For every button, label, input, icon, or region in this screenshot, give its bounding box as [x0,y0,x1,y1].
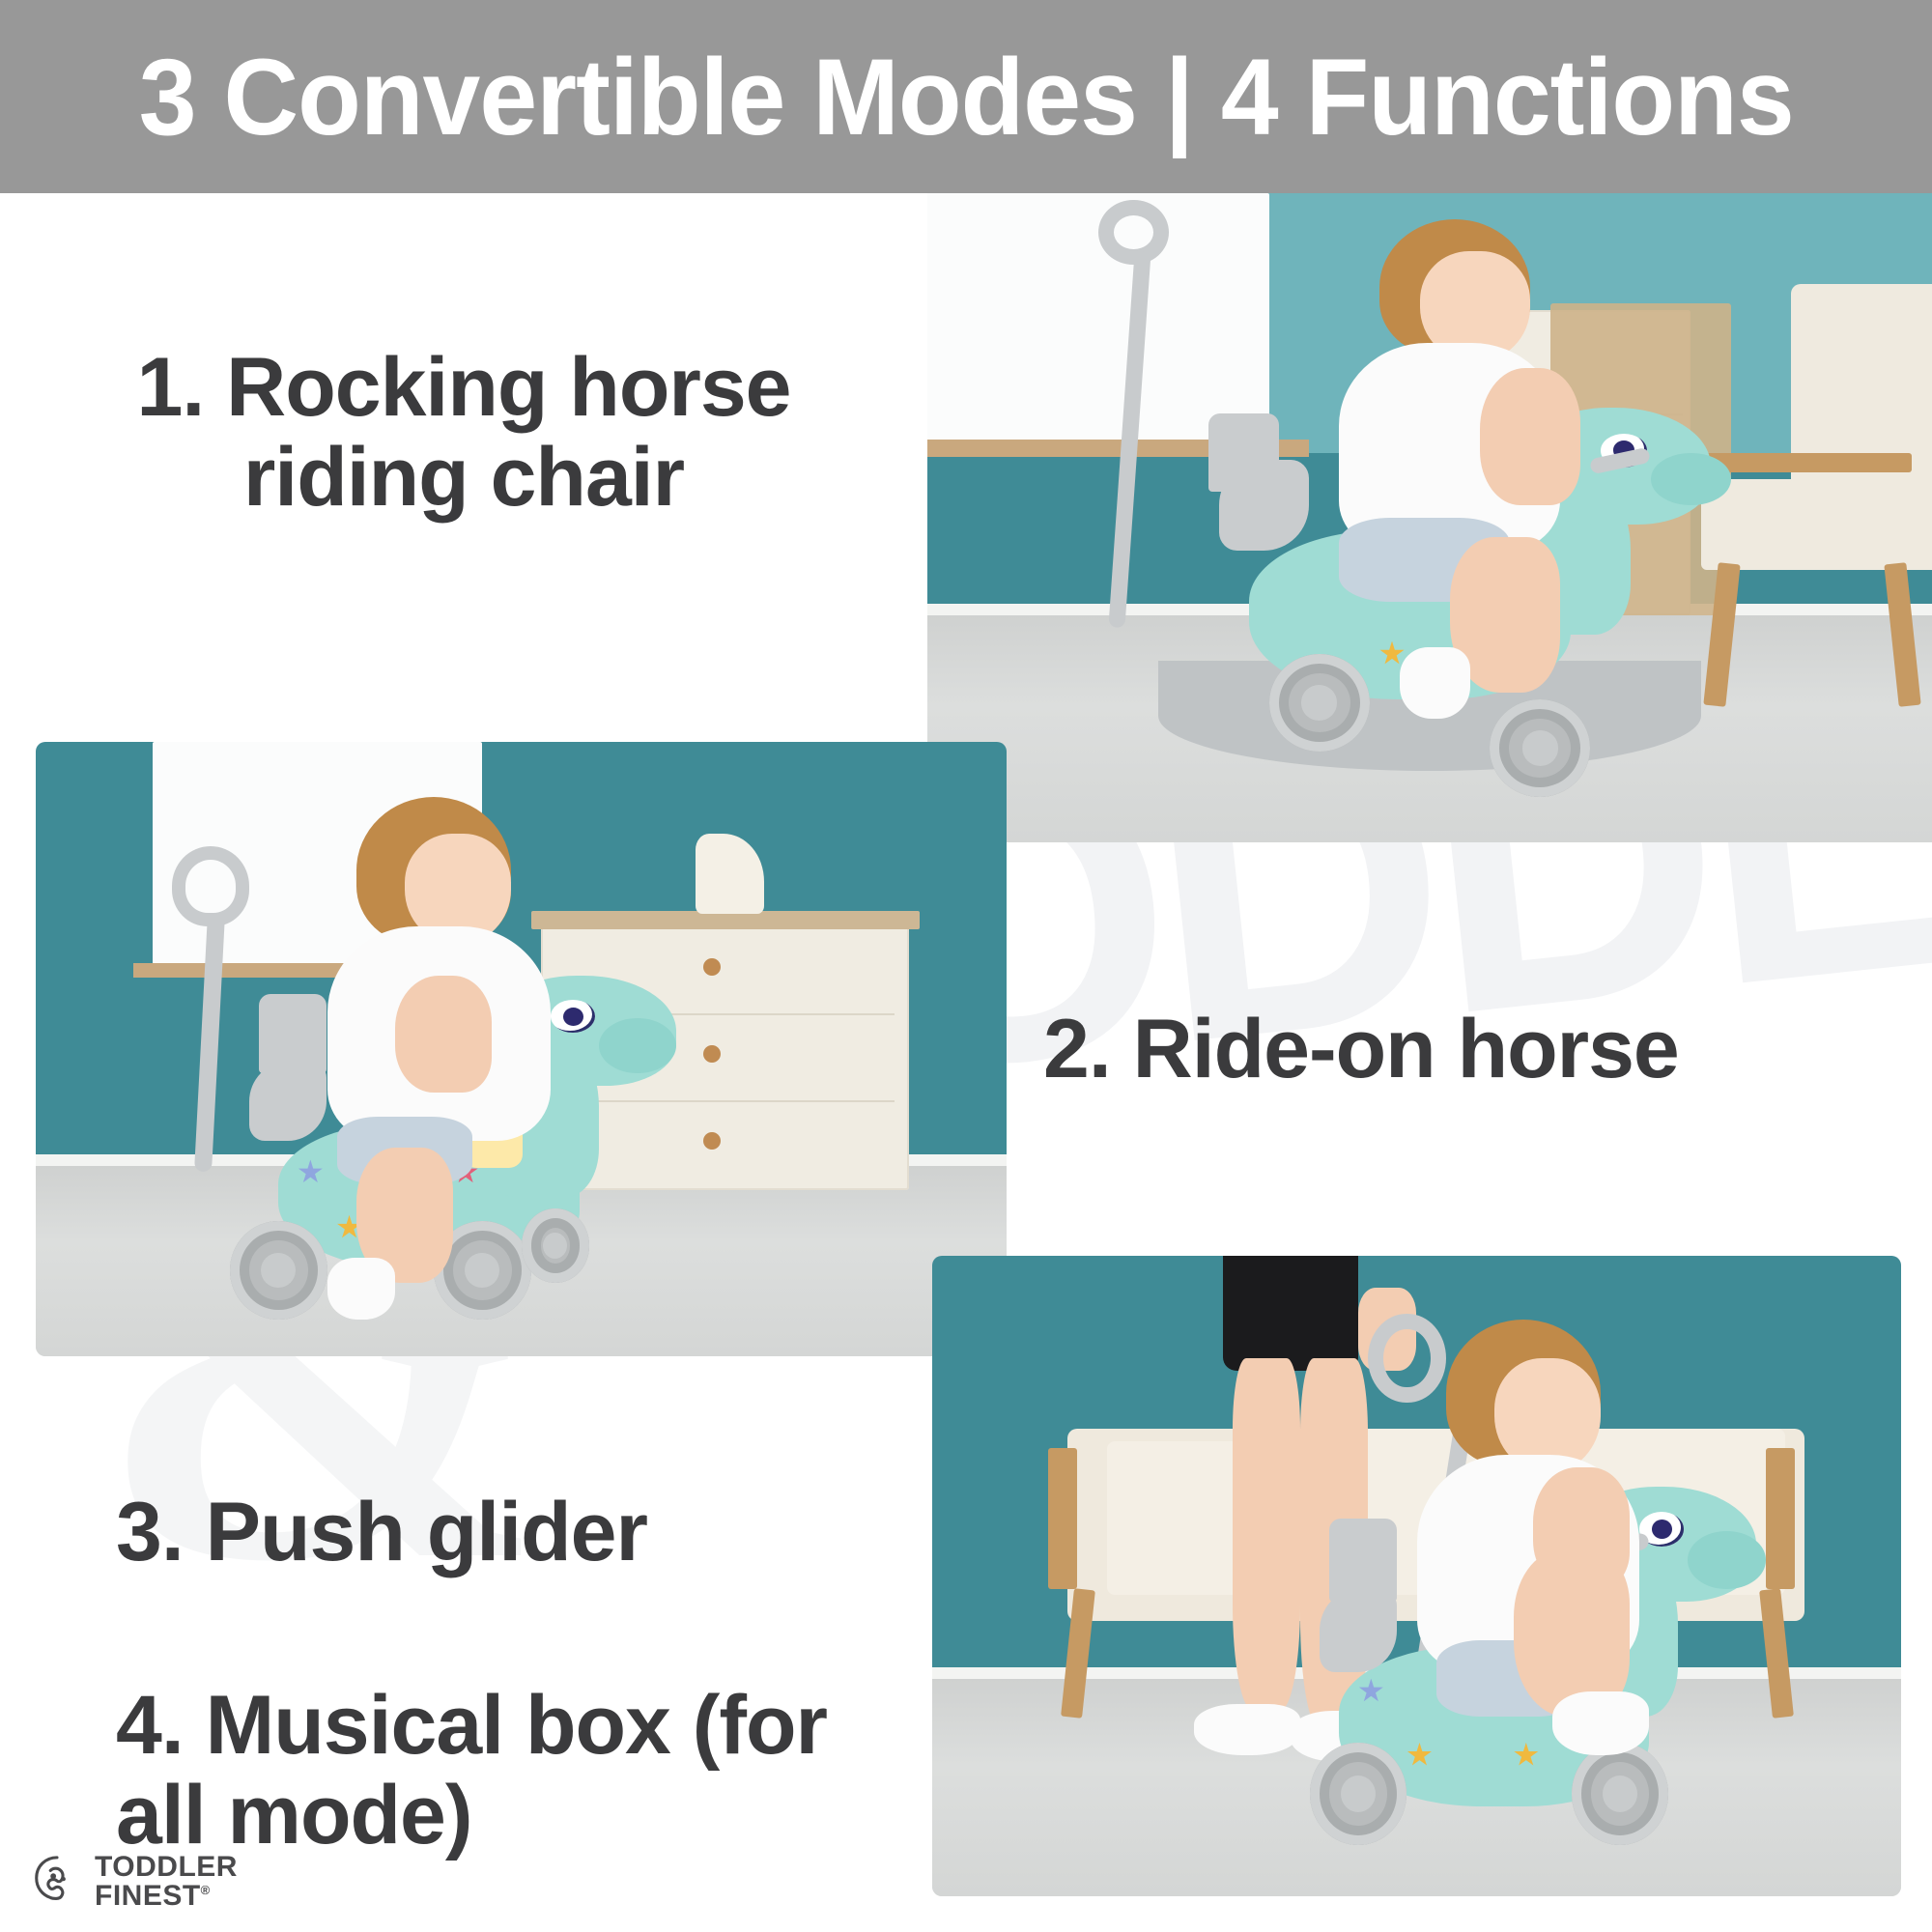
scene-rocking-horse [927,193,1932,842]
push-handle-loop [1368,1314,1445,1404]
toy-wheel [230,1221,327,1320]
dresser-knob [703,958,721,976]
brand-logo-line2: FINEST® [95,1882,238,1911]
adult-sock [1194,1704,1300,1755]
toy-seat-back [1208,413,1279,492]
baby-face-icon [29,1854,85,1910]
header-banner: 3 Convertible Modes | 4 Functions [0,0,1932,193]
page-title: 3 Convertible Modes | 4 Functions [139,35,1794,159]
toy-snout [1651,453,1731,505]
sofa-arm [1766,1448,1795,1589]
mode-caption-2: 2. Ride-on horse [1043,1005,1874,1094]
photo-ride-on [36,742,1007,1356]
scene-push-glider [932,1256,1901,1896]
toy-seat-back [259,994,327,1074]
dresser-knob [703,1132,721,1150]
toy-seat-back [1329,1519,1397,1602]
dresser-drawer-line [555,1100,895,1102]
toy-wheel [1310,1743,1406,1845]
child-arm [395,976,493,1093]
dresser-knob [703,1045,721,1063]
mode-caption-1: 1. Rocking horse riding chair [58,343,869,523]
mode-caption-3: 3. Push glider [116,1488,889,1577]
push-handle-loop [1098,200,1169,265]
toy-wheel [1490,699,1590,797]
scene-ride-on [36,742,1007,1356]
child-sock [1552,1691,1649,1755]
push-handle-loop [172,846,249,926]
registered-mark: ® [201,1883,211,1897]
armchair-seat [1701,479,1932,570]
brand-logo: TODDLER FINEST® [29,1853,238,1911]
toy-wheel [1269,654,1370,752]
photo-rocking-horse [927,193,1932,842]
child-sock [1400,647,1470,719]
photo-push-glider [932,1256,1901,1896]
brand-logo-text: TODDLER FINEST® [95,1853,238,1911]
child-arm [1533,1467,1630,1589]
child-arm [1480,368,1580,504]
child-sock [327,1258,395,1320]
toy-wheel [522,1208,589,1282]
sofa-arm [1048,1448,1077,1589]
mode-caption-4: 4. Musical box (for all mode) [116,1681,908,1861]
adult-shorts [1223,1256,1358,1371]
adult-leg [1233,1358,1300,1711]
brand-logo-line2-text: FINEST [95,1880,201,1912]
brand-logo-line1: TODDLER [95,1853,238,1882]
toy-wheel [1572,1743,1668,1845]
toy-snout [1688,1531,1765,1589]
